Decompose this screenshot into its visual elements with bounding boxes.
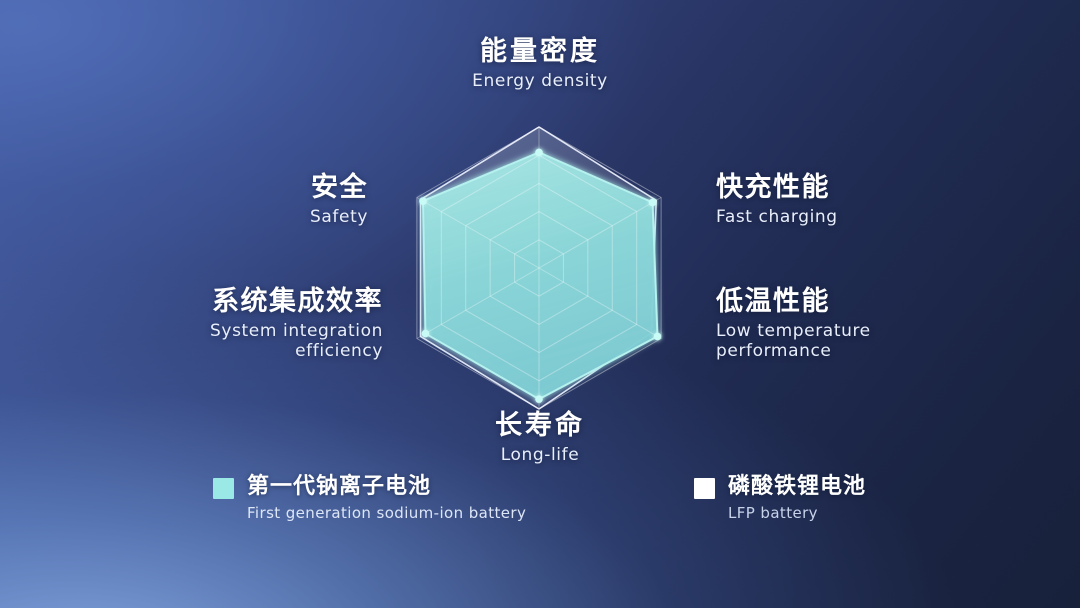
legend-swatch-sodium-ion <box>213 478 234 499</box>
legend-label-sodium-ion-cn: 第一代钠离子电池 <box>247 474 526 500</box>
axis-label-system-integration-en-line2: efficiency <box>295 341 383 361</box>
axis-label-safety-cn: 安全 <box>188 172 368 204</box>
axis-label-long-life-cn: 长寿命 <box>0 410 1080 442</box>
axis-label-safety-en: Safety <box>188 207 368 227</box>
axis-label-system-integration-en: System integration efficiency <box>123 321 383 361</box>
legend-label-sodium-ion-en: First generation sodium-ion battery <box>247 504 526 522</box>
legend-swatch-lfp <box>694 478 715 499</box>
series-point <box>535 149 543 157</box>
axis-label-system-integration-cn: 系统集成效率 <box>123 286 383 318</box>
radar-chart <box>374 103 704 433</box>
legend-label-lfp-en: LFP battery <box>728 504 866 522</box>
series-point <box>422 330 430 338</box>
axis-label-energy-density-cn: 能量密度 <box>0 36 1080 68</box>
axis-label-low-temperature-en: Low temperature performance <box>716 321 871 361</box>
axis-label-energy-density: 能量密度 Energy density <box>0 36 1080 91</box>
series-point <box>535 395 543 403</box>
series-point <box>419 197 427 205</box>
axis-label-low-temperature-en-line2: performance <box>716 341 831 361</box>
axis-label-low-temperature: 低温性能 Low temperature performance <box>716 286 871 361</box>
axis-label-low-temperature-cn: 低温性能 <box>716 286 871 318</box>
axis-label-fast-charging: 快充性能 Fast charging <box>716 172 838 227</box>
axis-label-safety: 安全 Safety <box>188 172 368 227</box>
axis-label-fast-charging-cn: 快充性能 <box>716 172 838 204</box>
axis-label-system-integration: 系统集成效率 System integration efficiency <box>123 286 383 361</box>
axis-label-fast-charging-en: Fast charging <box>716 207 838 227</box>
axis-label-energy-density-en: Energy density <box>0 71 1080 91</box>
series-point <box>654 333 662 341</box>
axis-label-system-integration-en-line1: System integration <box>210 321 383 341</box>
radar-chart-svg <box>374 103 704 433</box>
legend-label-lfp: 磷酸铁锂电池 LFP battery <box>728 474 866 522</box>
legend-item-sodium-ion[interactable]: 第一代钠离子电池 First generation sodium-ion bat… <box>213 474 526 522</box>
series-point <box>649 199 657 207</box>
axis-label-long-life-en: Long-life <box>0 445 1080 465</box>
legend-label-sodium-ion: 第一代钠离子电池 First generation sodium-ion bat… <box>247 474 526 522</box>
legend-label-lfp-cn: 磷酸铁锂电池 <box>728 474 866 500</box>
radar-chart-slide: 能量密度 Energy density 快充性能 Fast charging 低… <box>0 0 1080 608</box>
legend-item-lfp[interactable]: 磷酸铁锂电池 LFP battery <box>694 474 866 522</box>
axis-label-low-temperature-en-line1: Low temperature <box>716 321 871 341</box>
axis-label-long-life: 长寿命 Long-life <box>0 410 1080 465</box>
